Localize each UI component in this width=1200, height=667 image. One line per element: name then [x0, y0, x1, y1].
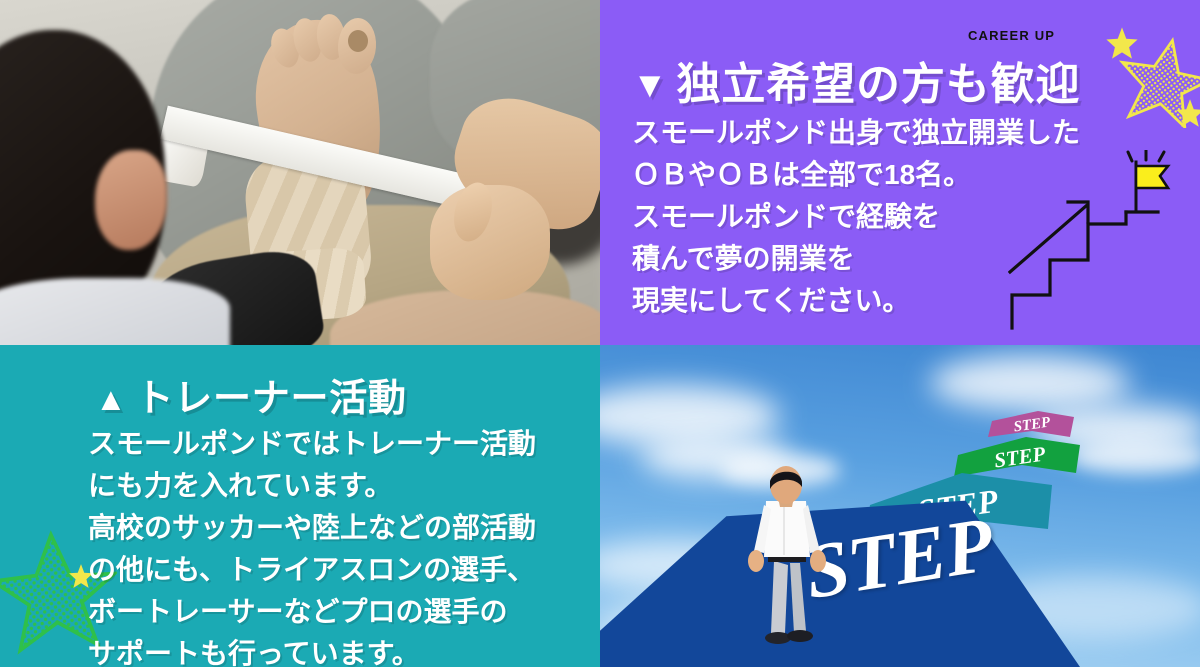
trainer-body-line: スモールポンドではトレーナー活動 — [88, 423, 536, 465]
trainer-panel: ▲トレーナー活動 スモールポンドではトレーナー活動 にも力を入れています。 高校… — [0, 345, 600, 667]
cloud — [1070, 440, 1200, 474]
trainer-body-line: 高校のサッカーや陸上などの部活動 — [88, 507, 536, 549]
foreground-shirt-collar — [0, 278, 230, 345]
trainer-body-line: ボートレーサーなどプロの選手の — [88, 591, 536, 633]
trainer-heading: ▲トレーナー活動 — [95, 367, 407, 422]
triangle-up-icon: ▲ — [95, 381, 127, 417]
trainer-body-line: の他にも、トライアスロンの選手、 — [88, 549, 536, 591]
taping-photo-panel — [0, 0, 600, 345]
athletic-taping-photo — [0, 0, 600, 345]
independence-body-line: スモールポンド出身で独立開業した — [632, 112, 1080, 154]
independence-heading-text: 独立希望の方も歓迎 — [677, 60, 1081, 109]
trainer-heading-text: トレーナー活動 — [135, 378, 406, 420]
poster-canvas: ▼独立希望の方も歓迎 スモールポンド出身で独立開業した ＯＢやＯＢは全部で18名… — [0, 0, 1200, 667]
trainer-body-line: サポートも行っています。 — [88, 633, 536, 667]
career-up-stairs-icon — [1008, 150, 1178, 330]
trainer-body: スモールポンドではトレーナー活動 にも力を入れています。 高校のサッカーや陸上な… — [88, 423, 536, 667]
businessman-figure — [738, 465, 834, 655]
independence-panel: ▼独立希望の方も歓迎 スモールポンド出身で独立開業した ＯＢやＯＢは全部で18名… — [600, 0, 1200, 345]
toenail — [348, 30, 368, 52]
independence-heading: ▼独立希望の方も歓迎 — [632, 48, 1080, 112]
small-yellow-star-lower-icon — [1175, 98, 1200, 128]
foreground-ear — [95, 150, 167, 250]
trainer-body-line: にも力を入れています。 — [88, 465, 536, 507]
triangle-down-icon: ▼ — [632, 64, 669, 105]
cloud — [930, 355, 1130, 411]
career-up-label: CAREER UP — [968, 28, 1055, 43]
step-photo-panel: STEP STEP STEP STEP — [600, 345, 1200, 667]
